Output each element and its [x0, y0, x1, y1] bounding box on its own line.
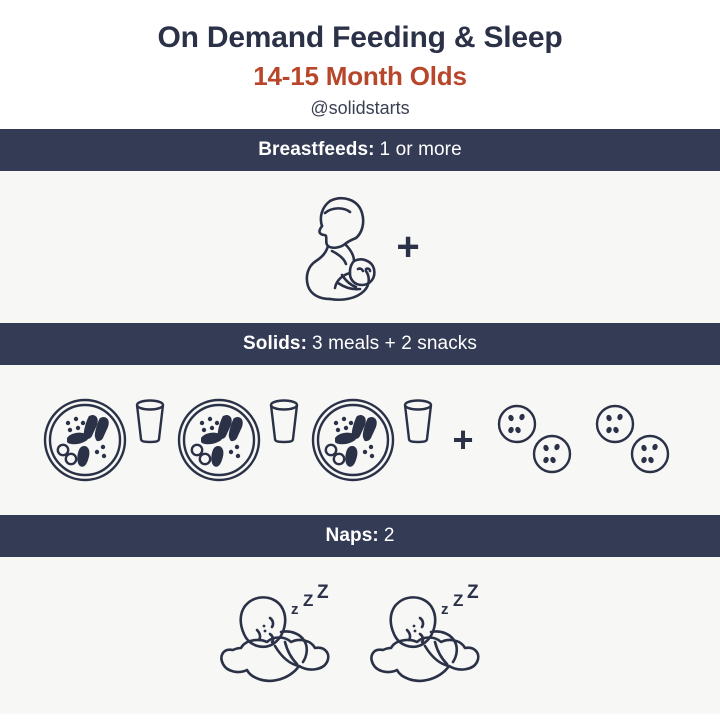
plus-symbol-solids: + [442, 422, 483, 458]
svg-text:Z: Z [453, 591, 463, 610]
section-label-solids: Solids: [243, 333, 307, 354]
section-label-breastfeeds: Breastfeeds: [258, 139, 374, 160]
breastfeeding-icon [292, 191, 388, 303]
section-label-naps: Naps: [326, 525, 379, 546]
section-panel-naps: z Z Z [0, 557, 720, 714]
svg-text:z: z [441, 601, 449, 618]
svg-text:Z: Z [467, 584, 479, 603]
section-bar-naps-text: Naps:2 [326, 525, 395, 547]
snack-unit [588, 400, 680, 480]
plate-icon [40, 395, 130, 485]
meal-unit [308, 395, 436, 485]
solids-icon-row: + [40, 395, 679, 485]
page-subtitle: 14-15 Month Olds [0, 61, 720, 92]
page-title: On Demand Feeding & Sleep [0, 20, 720, 55]
plus-symbol-breastfeeds: + [388, 227, 427, 267]
meal-unit [174, 395, 302, 485]
svg-text:Z: Z [317, 584, 329, 603]
breastfeeds-icon-row: + [292, 191, 427, 303]
cup-icon [266, 397, 302, 445]
poster-header: On Demand Feeding & Sleep 14-15 Month Ol… [0, 0, 720, 129]
section-panel-breastfeeds: + [0, 171, 720, 323]
section-bar-breastfeeds-text: Breastfeeds:1 or more [258, 139, 462, 161]
meal-unit [40, 395, 168, 485]
plate-icon [308, 395, 398, 485]
sleeping-baby-icon: z Z Z [215, 584, 355, 688]
sleeping-baby-icon: z Z Z [365, 584, 505, 688]
snack-unit [490, 400, 582, 480]
snack-icon [597, 406, 668, 472]
section-bar-breastfeeds: Breastfeeds:1 or more [0, 129, 720, 171]
section-panel-solids: + [0, 365, 720, 515]
plate-icon [174, 395, 264, 485]
section-value-naps: 2 [384, 525, 395, 546]
section-bar-naps: Naps:2 [0, 515, 720, 557]
svg-text:Z: Z [303, 591, 313, 610]
snack-icon [499, 406, 570, 472]
section-bar-solids-text: Solids:3 meals + 2 snacks [243, 333, 477, 355]
naps-icon-row: z Z Z [215, 584, 505, 688]
infographic-poster: On Demand Feeding & Sleep 14-15 Month Ol… [0, 0, 720, 720]
section-value-breastfeeds: 1 or more [380, 139, 462, 160]
cup-icon [132, 397, 168, 445]
social-handle: @solidstarts [0, 98, 720, 120]
svg-text:z: z [291, 601, 299, 618]
cup-icon [400, 397, 436, 445]
section-value-solids: 3 meals + 2 snacks [312, 333, 477, 354]
section-bar-solids: Solids:3 meals + 2 snacks [0, 323, 720, 365]
